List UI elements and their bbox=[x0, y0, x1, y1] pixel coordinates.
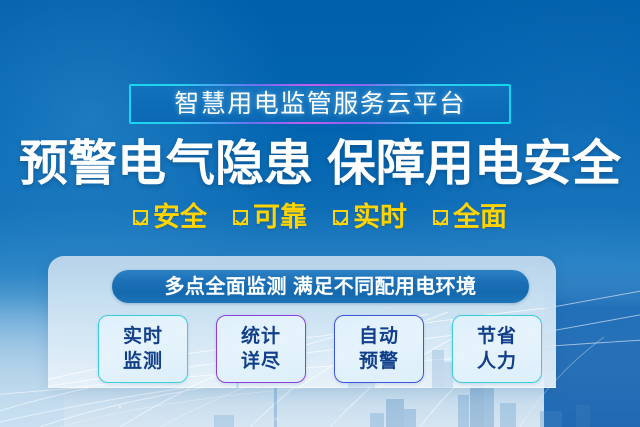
feature-card-line-2: 详尽 bbox=[241, 349, 281, 374]
subtitle-pill: 多点全面监测 满足不同配用电环境 bbox=[112, 270, 529, 303]
feature-card-line-1: 自动 bbox=[359, 324, 399, 349]
feature-card-realtime-monitoring[interactable]: 实时 监测 bbox=[98, 315, 188, 383]
feature-card-automatic-alert[interactable]: 自动 预警 bbox=[334, 315, 424, 383]
headline: 预警电气隐患保障用电安全 bbox=[0, 135, 640, 193]
feature-tag-list: 安全 可靠 实时 全面 bbox=[0, 202, 640, 232]
feature-card-line-2: 监测 bbox=[123, 349, 163, 374]
feature-tag: 可靠 bbox=[233, 202, 307, 232]
platform-title-inner: 智慧用电监管服务云平台 bbox=[131, 86, 509, 122]
feature-tag: 全面 bbox=[433, 202, 507, 232]
headline-part-2: 保障用电安全 bbox=[327, 137, 621, 191]
background-right-column bbox=[544, 267, 640, 427]
feature-tag-label: 全面 bbox=[453, 202, 507, 232]
feature-card-labor-saving[interactable]: 节省 人力 bbox=[452, 315, 542, 383]
feature-card-line-1: 实时 bbox=[123, 324, 163, 349]
checkbox-checked-icon bbox=[233, 210, 248, 225]
feature-tag: 安全 bbox=[133, 202, 207, 232]
feature-tag-label: 可靠 bbox=[253, 202, 307, 232]
checkbox-checked-icon bbox=[333, 210, 348, 225]
feature-card-line-2: 预警 bbox=[359, 349, 399, 374]
feature-card-line-1: 统计 bbox=[241, 324, 281, 349]
feature-card-list: 实时 监测 统计 详尽 自动 预警 节省 人力 bbox=[98, 315, 542, 383]
headline-part-1: 预警电气隐患 bbox=[19, 137, 313, 191]
page-title: 智慧用电监管服务云平台 bbox=[174, 92, 466, 117]
feature-tag: 实时 bbox=[333, 202, 407, 232]
platform-title-frame: 智慧用电监管服务云平台 bbox=[129, 84, 511, 124]
subtitle-text: 多点全面监测 满足不同配用电环境 bbox=[165, 276, 477, 298]
feature-tag-label: 实时 bbox=[353, 202, 407, 232]
checkbox-checked-icon bbox=[433, 210, 448, 225]
feature-card-line-2: 人力 bbox=[477, 349, 517, 374]
feature-card-detailed-statistics[interactable]: 统计 详尽 bbox=[216, 315, 306, 383]
checkbox-checked-icon bbox=[133, 210, 148, 225]
promo-banner: 智慧用电监管服务云平台 预警电气隐患保障用电安全 安全 可靠 实时 全面 bbox=[0, 0, 640, 427]
feature-card-line-1: 节省 bbox=[477, 324, 517, 349]
feature-tag-label: 安全 bbox=[153, 202, 207, 232]
